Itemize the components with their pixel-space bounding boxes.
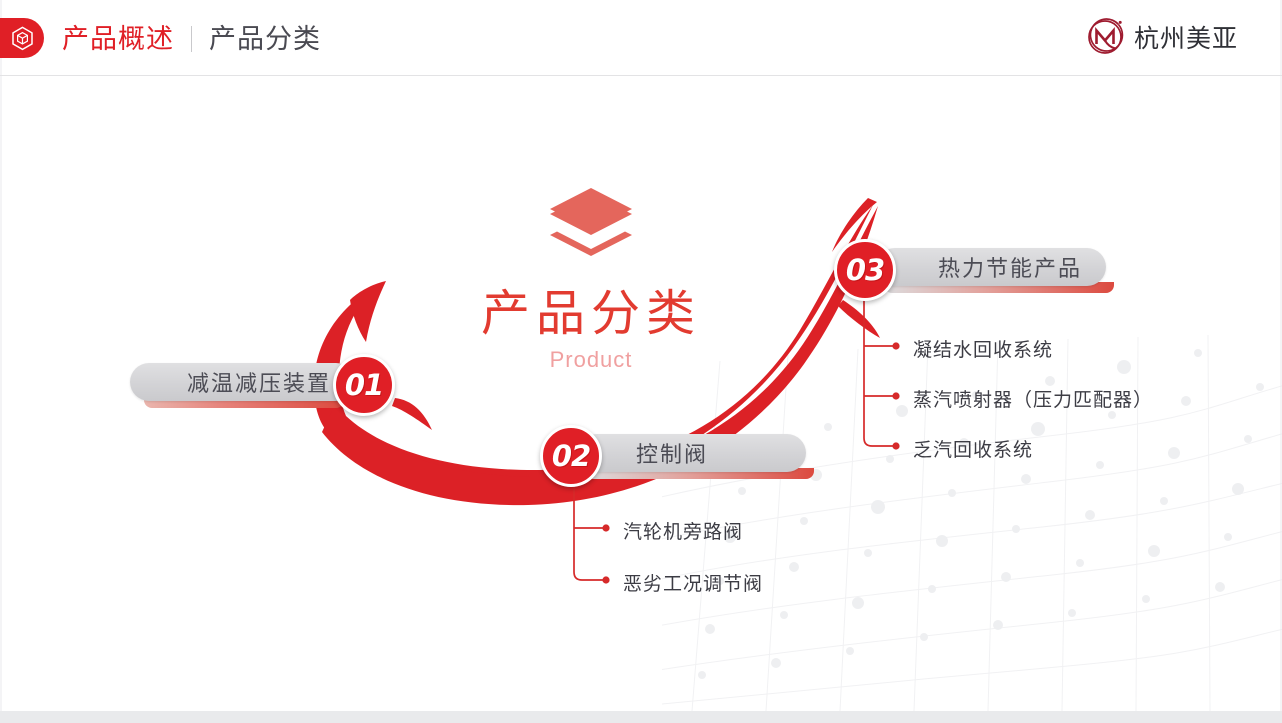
cube-hexagon-icon [11, 26, 34, 51]
brand-name: 杭州美亚 [1134, 19, 1238, 55]
header-icon-badge [0, 18, 44, 58]
slide-canvas: 产品概述 产品分类 杭州美亚 产品分类 Product [0, 0, 1282, 723]
node-03-number: 03 [846, 253, 884, 287]
circle-m-logo-icon [1084, 16, 1126, 58]
node-03-child-1[interactable]: 蒸汽喷射器（压力匹配器） [913, 385, 1153, 412]
node-03-child-0[interactable]: 凝结水回收系统 [913, 335, 1053, 362]
node-02-badge[interactable]: 02 [540, 425, 602, 487]
brand-logo: 杭州美亚 [1084, 16, 1238, 58]
header-title-group: 产品概述 产品分类 [62, 17, 321, 61]
node-01-badge[interactable]: 01 [333, 354, 395, 416]
node-02-pill[interactable]: 控制阀 [578, 434, 806, 472]
node-02-number: 02 [552, 439, 590, 473]
header-title-divider [191, 26, 192, 52]
node-01-pill[interactable]: 减温减压装置 [130, 363, 355, 401]
node-03-children-tree: 凝结水回收系统 蒸汽喷射器（压力匹配器） 乏汽回收系统 [858, 294, 1158, 464]
left-edge-strip [0, 0, 2, 711]
node-02-child-1[interactable]: 恶劣工况调节阀 [623, 569, 763, 596]
node-01-number: 01 [345, 368, 383, 402]
node-03-badge[interactable]: 03 [834, 239, 896, 301]
node-02-label: 控制阀 [636, 437, 708, 469]
header-title-secondary: 产品分类 [209, 17, 321, 61]
bottom-bar [0, 711, 1282, 723]
node-01-label: 减温减压装置 [187, 366, 331, 398]
header-title-primary: 产品概述 [62, 17, 174, 61]
node-02-child-0[interactable]: 汽轮机旁路阀 [623, 517, 743, 544]
node-02-children-tree: 汽轮机旁路阀 恶劣工况调节阀 [568, 480, 808, 590]
slide-header: 产品概述 产品分类 杭州美亚 [0, 0, 1282, 76]
layers-icon [547, 186, 635, 268]
node-03-child-2[interactable]: 乏汽回收系统 [913, 435, 1033, 462]
header-underline [0, 75, 1282, 76]
node-03-label: 热力节能产品 [938, 251, 1082, 283]
node-03-pill[interactable]: 热力节能产品 [876, 248, 1106, 286]
